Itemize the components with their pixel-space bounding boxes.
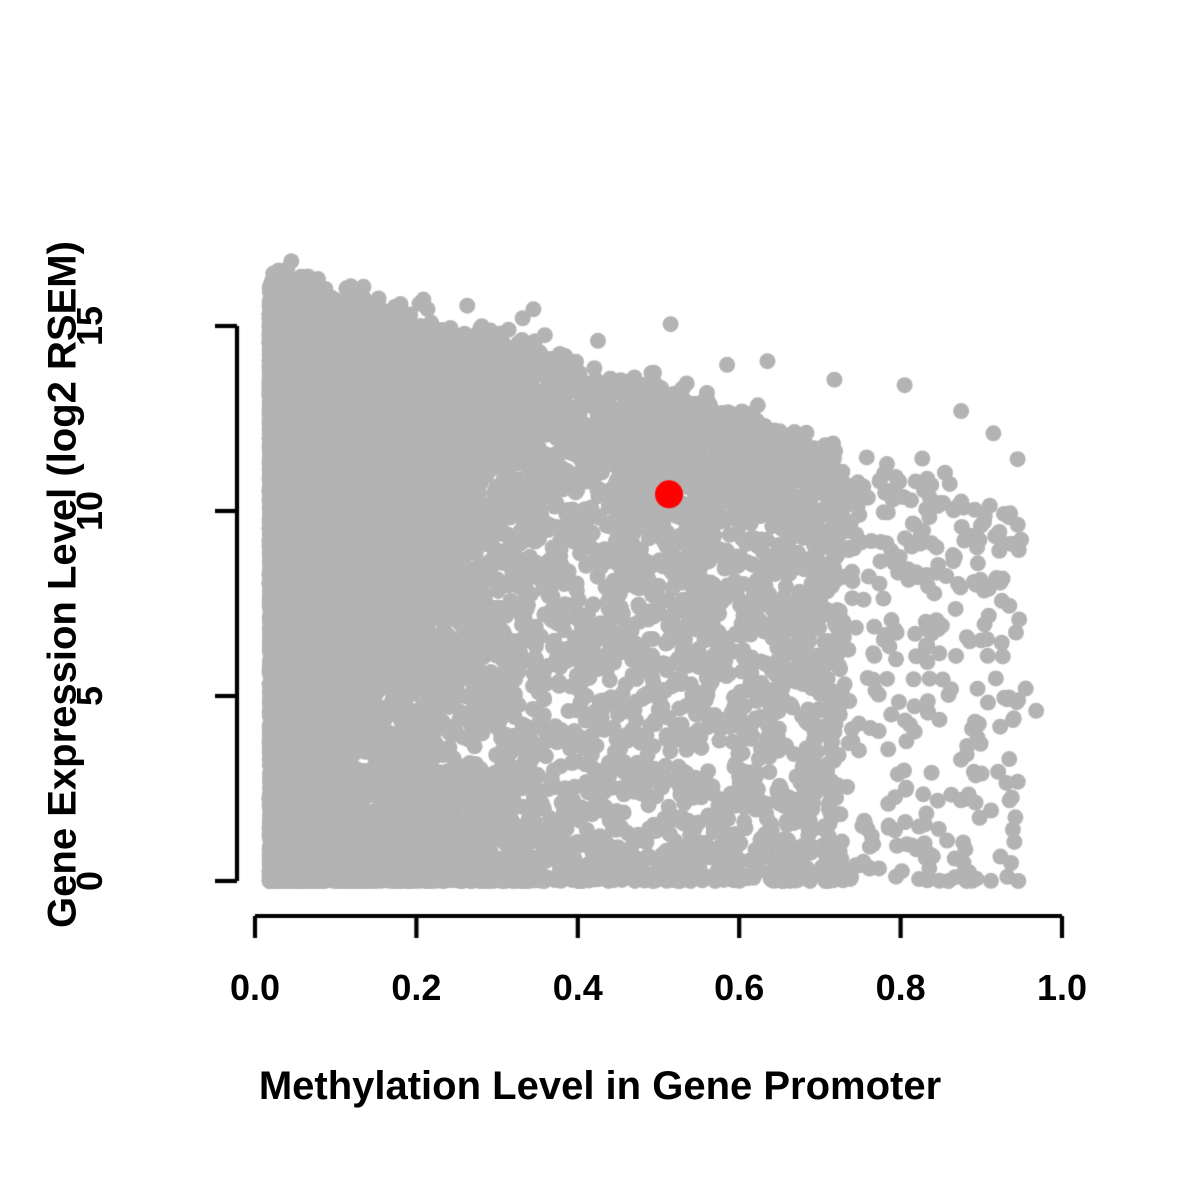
x-tick-label: 0.6 [714,967,764,1009]
plot-area [0,0,1200,1200]
x-tick-label: 0.8 [876,967,926,1009]
y-axis-title: Gene Expression Level (log2 RSEM) [41,165,86,1005]
x-tick-label: 0.2 [391,967,441,1009]
x-tick-label: 0.0 [230,967,280,1009]
scatter-plot-figure: All genes TBC1D1 0.00.20.40.60.81.0 0510… [0,0,1200,1200]
x-axis-title: Methylation Level in Gene Promoter [0,1064,1200,1109]
x-tick-label: 0.4 [553,967,603,1009]
x-tick-label: 1.0 [1037,967,1087,1009]
